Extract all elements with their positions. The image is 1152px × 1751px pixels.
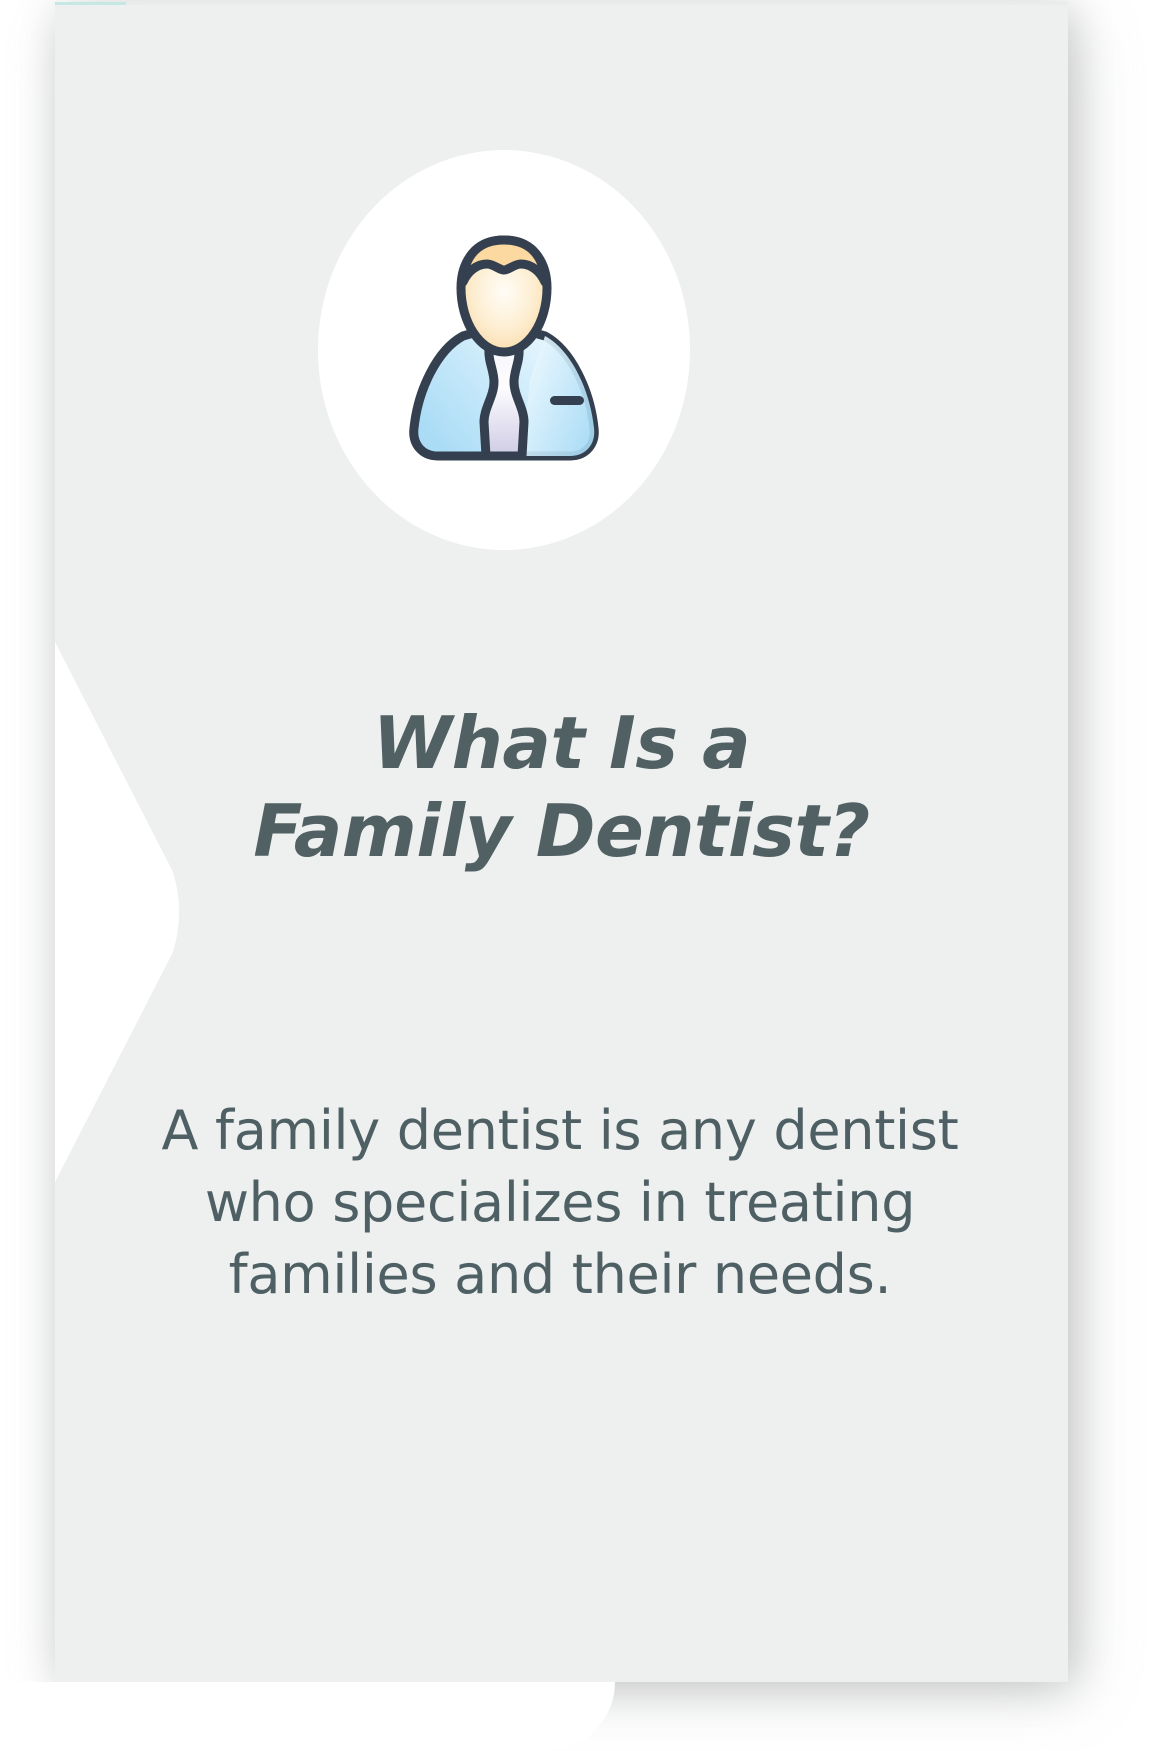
page-title: What Is a Family Dentist?: [55, 700, 1068, 876]
card-top-accent-bar: [55, 2, 1068, 5]
dentist-avatar-icon: [404, 230, 604, 470]
page-title-line-1: What Is a: [55, 700, 1068, 788]
icon-medallion: [318, 150, 690, 550]
body-description: A family dentist is any dentist who spec…: [95, 1095, 1025, 1310]
slide-canvas: What Is a Family Dentist? A family denti…: [0, 0, 1152, 1749]
bottom-left-tab: [0, 1682, 615, 1751]
page-title-line-2: Family Dentist?: [55, 788, 1068, 876]
body-line-3: families and their needs.: [95, 1239, 1025, 1311]
body-line-1: A family dentist is any dentist: [95, 1095, 1025, 1167]
body-line-2: who specializes in treating: [95, 1167, 1025, 1239]
